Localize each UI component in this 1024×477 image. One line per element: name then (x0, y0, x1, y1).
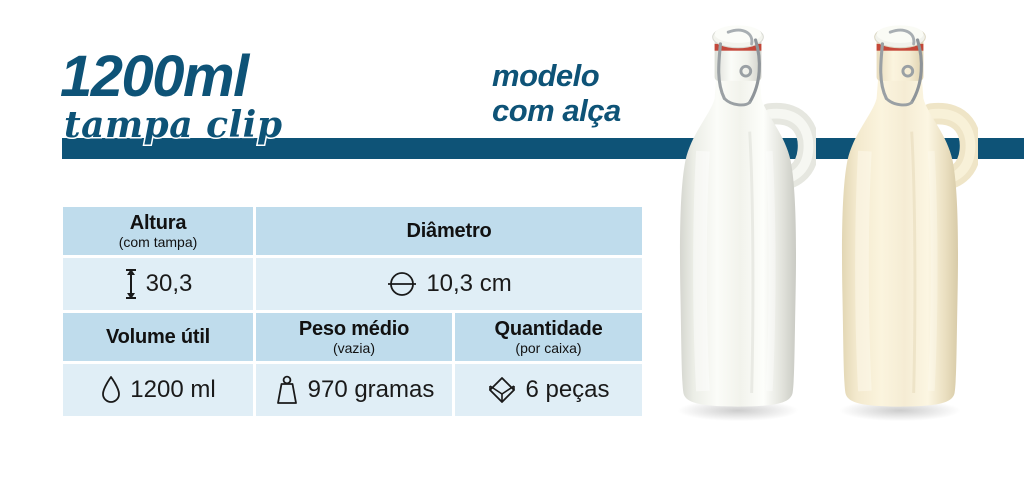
cell-header-volume-util: Volume útil (63, 313, 253, 361)
table-row: 1200 ml 970 gramas (63, 364, 642, 416)
water-drop-icon (100, 375, 122, 405)
product-photo-group (655, 0, 1024, 460)
cell-value-text: 1200 ml (130, 377, 215, 403)
cell-value-text: 30,3 (146, 271, 193, 297)
cell-title: Altura (130, 212, 187, 234)
cell-subtitle: (vazia) (333, 340, 375, 356)
cell-value-text: 10,3 cm (426, 271, 511, 297)
cell-title: Quantidade (494, 318, 602, 340)
table-row: Altura (com tampa) Diâmetro (63, 207, 642, 255)
bottle-image-white (660, 2, 816, 427)
cell-header-quantidade: Quantidade (por caixa) (455, 313, 642, 361)
cell-subtitle: (por caixa) (515, 340, 581, 356)
table-row: Volume útil Peso médio (vazia) Quantidad… (63, 313, 642, 361)
bottle-image-cream (822, 2, 978, 427)
cell-header-altura: Altura (com tampa) (63, 207, 253, 255)
box-cube-icon (487, 375, 517, 405)
headline-closure-script: tampa clip (64, 106, 283, 144)
cell-header-peso-medio: Peso médio (vazia) (256, 313, 452, 361)
headline-block: 1200ml (60, 48, 248, 106)
model-label-line1: modelo (492, 58, 621, 93)
cell-value-diametro: 10,3 cm (256, 258, 642, 310)
cell-title: Volume útil (106, 326, 210, 348)
table-row: 30,3 10,3 cm (63, 258, 642, 310)
headline-volume: 1200ml (60, 48, 248, 106)
cell-title: Diâmetro (406, 220, 491, 242)
diameter-circle-icon (386, 270, 418, 298)
cell-title: Peso médio (299, 318, 409, 340)
specifications-table: Altura (com tampa) Diâmetro (63, 207, 642, 416)
cell-value-peso-medio: 970 gramas (256, 364, 452, 416)
product-spec-sheet: 1200ml tampa clip modelo com alça Altura… (0, 0, 1024, 477)
cell-value-text: 970 gramas (308, 377, 435, 403)
height-arrow-icon (124, 269, 138, 299)
cell-value-volume-util: 1200 ml (63, 364, 253, 416)
model-label-line2: com alça (492, 93, 621, 128)
cell-value-altura: 30,3 (63, 258, 253, 310)
cell-header-diametro: Diâmetro (256, 207, 642, 255)
weight-icon (274, 375, 300, 405)
model-label: modelo com alça (492, 58, 621, 128)
cell-value-text: 6 peças (525, 377, 609, 403)
cell-subtitle: (com tampa) (119, 234, 198, 250)
cell-value-quantidade: 6 peças (455, 364, 642, 416)
